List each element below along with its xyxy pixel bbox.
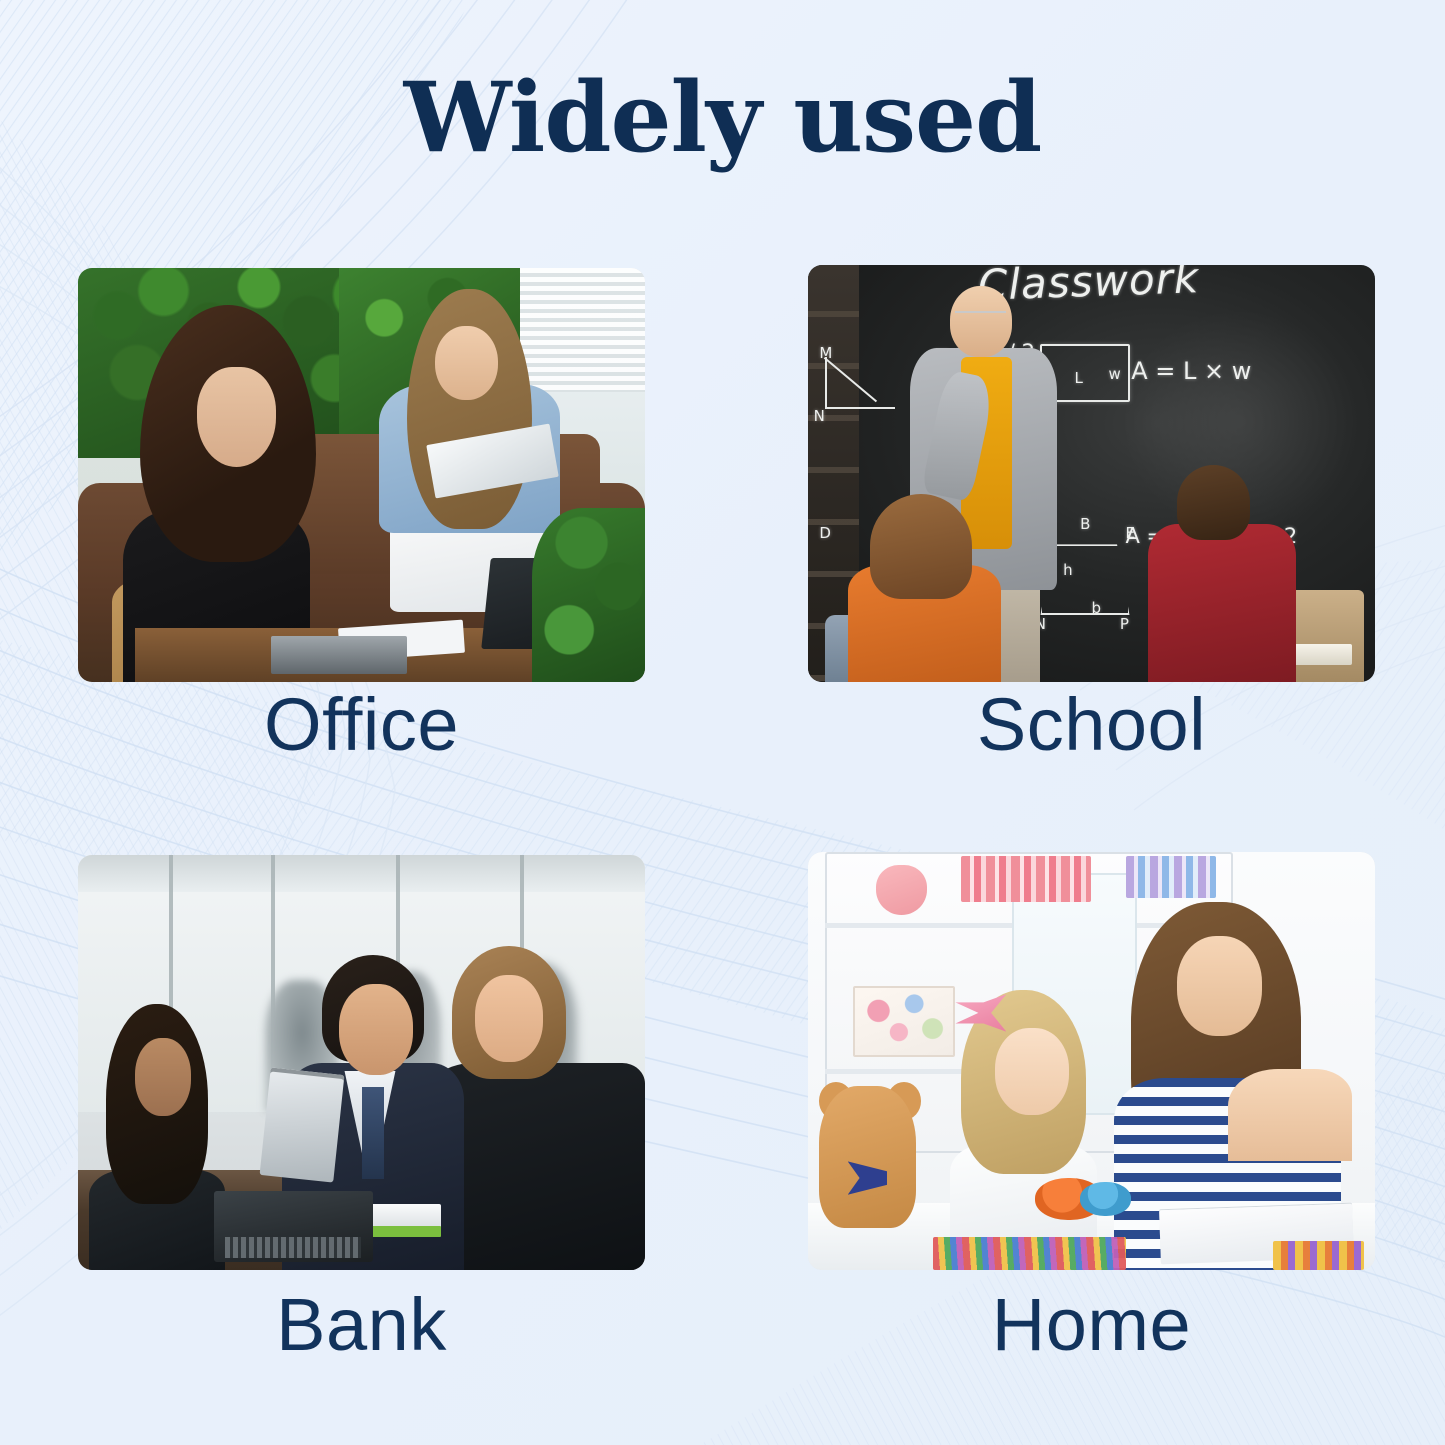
use-case-card-office[interactable] <box>78 268 645 682</box>
keyboard <box>225 1237 361 1258</box>
crayon-box <box>1273 1241 1364 1270</box>
clay-blue <box>1080 1182 1131 1215</box>
use-case-card-bank[interactable] <box>78 855 645 1270</box>
diagram-label-B: B <box>1080 515 1090 533</box>
photo-office <box>78 268 645 682</box>
use-case-card-home[interactable] <box>808 852 1375 1270</box>
office-scene <box>78 268 645 682</box>
photo-home <box>808 852 1375 1270</box>
diagram-label-b: b <box>1092 599 1102 617</box>
books-purple <box>1126 856 1217 898</box>
clipboard <box>260 1067 345 1182</box>
diagram-label-h: h <box>1063 561 1073 579</box>
student-right-body <box>1148 524 1295 682</box>
triangle-diagram <box>825 357 895 409</box>
glasses-icon <box>955 311 1006 326</box>
diagram-label-M: M <box>819 344 832 362</box>
home-scene <box>808 852 1375 1270</box>
use-case-label-school: School <box>808 688 1375 762</box>
use-case-label-office: Office <box>78 688 645 762</box>
teddy-bear <box>819 1086 915 1228</box>
colored-pencils <box>933 1237 1126 1270</box>
plant-right <box>532 508 645 682</box>
use-case-label-bank: Bank <box>78 1288 645 1362</box>
blackboard-formula-2: A = L × w <box>1131 357 1251 385</box>
use-case-label-home: Home <box>808 1288 1375 1362</box>
photo-school: Classwork = b×h / 2 A = L × w A = (B+b)×… <box>808 265 1375 682</box>
photo-bank <box>78 855 645 1270</box>
apple-decoration <box>876 865 927 915</box>
school-scene: Classwork = b×h / 2 A = L × w A = (B+b)×… <box>808 265 1375 682</box>
diagram-label-E: E <box>1126 524 1135 542</box>
necktie <box>362 1087 385 1178</box>
use-case-grid: Office Classwork = b×h / 2 A = L × w A =… <box>0 0 1445 1445</box>
diagram-label-P: P <box>1120 615 1129 633</box>
diagram-label-L: L <box>1074 369 1082 387</box>
floral-picture <box>853 986 955 1057</box>
diagram-label-N: N <box>814 407 825 425</box>
use-case-card-school[interactable]: Classwork = b×h / 2 A = L × w A = (B+b)×… <box>808 265 1375 682</box>
bank-scene <box>78 855 645 1270</box>
blackboard-heading: Classwork <box>977 265 1200 310</box>
diagram-label-w: w <box>1109 365 1121 383</box>
diagram-label-D: D <box>819 524 831 542</box>
laptop-open <box>271 636 407 673</box>
books-pink <box>961 856 1091 902</box>
